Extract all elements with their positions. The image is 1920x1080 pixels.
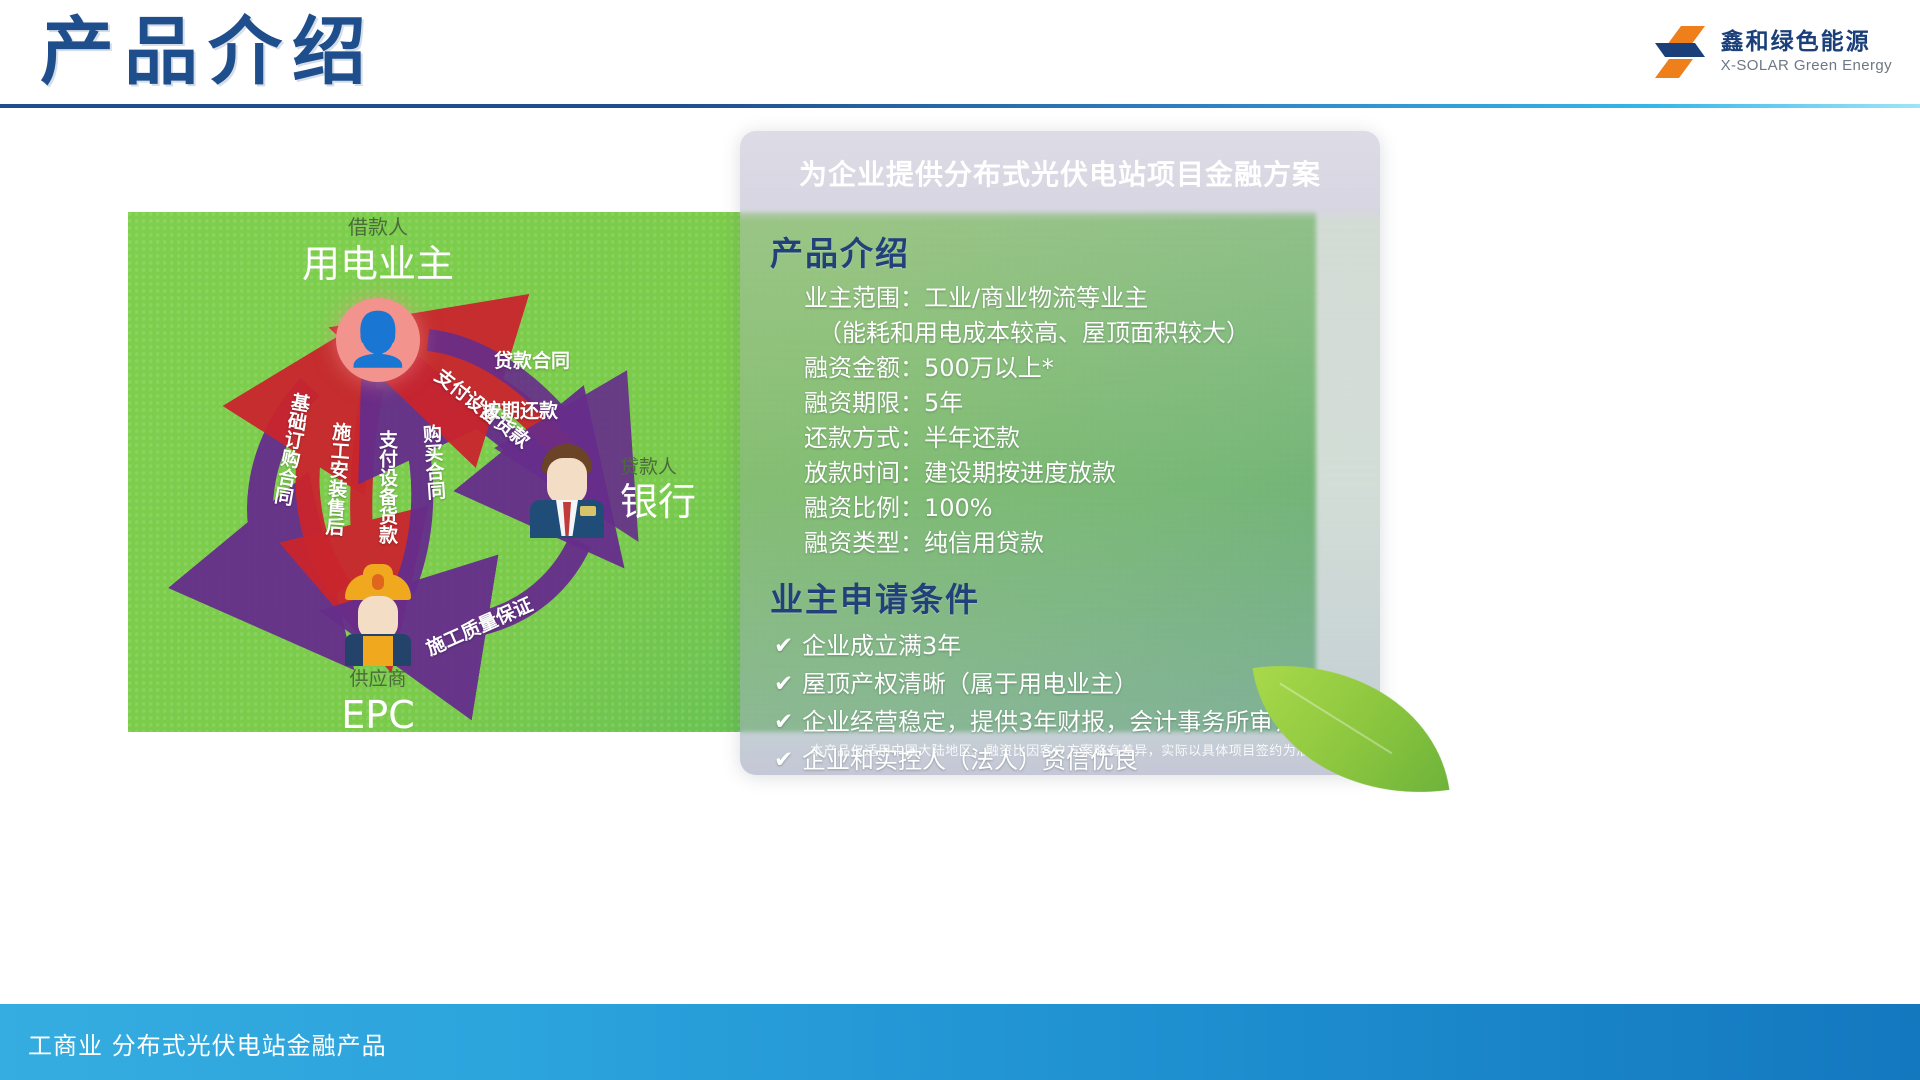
list-item-label: 企业成立满3年 bbox=[802, 627, 961, 665]
arrow-label-pay-equipment-1: 支付设备货款 bbox=[374, 430, 401, 544]
list-item: 业主范围：工业/商业物流等业主 bbox=[804, 281, 1380, 316]
worker-hat-light bbox=[372, 574, 384, 590]
section-title-conditions: 业主申请条件 bbox=[770, 573, 1380, 621]
logo-english-name: X-SOLAR Green Energy bbox=[1721, 56, 1892, 75]
borrower-caption: 借款人 bbox=[288, 214, 468, 240]
arrow-label-repay-on-schedule: 按期还款 bbox=[482, 396, 558, 423]
diagram-node-borrower: 借款人 用电业主 👤 bbox=[288, 214, 468, 382]
banker-avatar bbox=[528, 444, 606, 536]
banker-face bbox=[547, 458, 587, 504]
list-item: 还款方式：半年还款 bbox=[804, 421, 1380, 456]
lender-name: 银行 bbox=[620, 479, 696, 525]
banker-pocket-note bbox=[580, 506, 596, 516]
logo-text: 鑫和绿色能源 X-SOLAR Green Energy bbox=[1721, 29, 1892, 75]
arrow-label-purchase-contract: 购买合同 bbox=[417, 423, 449, 501]
section-title-product: 产品介绍 bbox=[770, 227, 1380, 275]
panel-headline: 为企业提供分布式光伏电站项目金融方案 bbox=[799, 153, 1321, 193]
list-item: 融资期限：5年 bbox=[804, 386, 1380, 421]
borrower-avatar: 👤 bbox=[336, 298, 420, 382]
list-item: ✔ 企业成立满3年 bbox=[774, 627, 1380, 665]
list-item: 放款时间：建设期按进度放款 bbox=[804, 456, 1380, 491]
supplier-caption: 供应商 bbox=[288, 666, 468, 692]
worker-avatar bbox=[339, 572, 417, 664]
lender-caption: 贷款人 bbox=[620, 455, 696, 479]
x-solar-mark-icon bbox=[1651, 23, 1709, 81]
brand-logo: 鑫和绿色能源 X-SOLAR Green Energy bbox=[1651, 22, 1892, 82]
list-item: 融资金额：500万以上* bbox=[804, 351, 1380, 386]
worker-bib bbox=[363, 636, 393, 666]
logo-chinese-name: 鑫和绿色能源 bbox=[1721, 29, 1892, 56]
leaf-vein bbox=[1279, 682, 1392, 753]
check-icon: ✔ bbox=[774, 627, 802, 665]
borrower-name: 用电业主 bbox=[288, 240, 468, 288]
person-icon: 👤 bbox=[346, 314, 411, 366]
logo-mark-icon bbox=[1651, 23, 1709, 81]
list-item: （能耗和用电成本较高、屋顶面积较大） bbox=[804, 316, 1380, 351]
page-footer: 工商业 分布式光伏电站金融产品 bbox=[0, 1004, 1920, 1080]
arrow-label-loan-contract: 贷款合同 bbox=[494, 346, 570, 373]
panel-headline-bar: 为企业提供分布式光伏电站项目金融方案 bbox=[740, 131, 1380, 215]
panel-footnote: 本产品仅适用中国大陆地区，融资比因客户方案略有差异，实际以具体项目签约为准 bbox=[810, 740, 1310, 759]
supplier-name: EPC bbox=[288, 692, 468, 732]
header-divider bbox=[0, 104, 1920, 108]
list-item: 融资比例：100% bbox=[804, 491, 1380, 526]
page-title: 产品介绍 bbox=[40, 6, 376, 98]
page-header: 产品介绍 鑫和绿色能源 X-SOLAR Green Energy bbox=[0, 0, 1920, 106]
diagram-node-lender: 贷款人 银行 bbox=[528, 444, 696, 536]
list-item: 融资类型：纯信用贷款 bbox=[804, 526, 1380, 561]
check-icon: ✔ bbox=[774, 665, 802, 703]
footer-label: 工商业 分布式光伏电站金融产品 bbox=[28, 1026, 387, 1061]
list-item-label: 屋顶产权清晰（属于用电业主） bbox=[802, 665, 1138, 703]
product-spec-list: 业主范围：工业/商业物流等业主 （能耗和用电成本较高、屋顶面积较大） 融资金额：… bbox=[740, 281, 1380, 561]
